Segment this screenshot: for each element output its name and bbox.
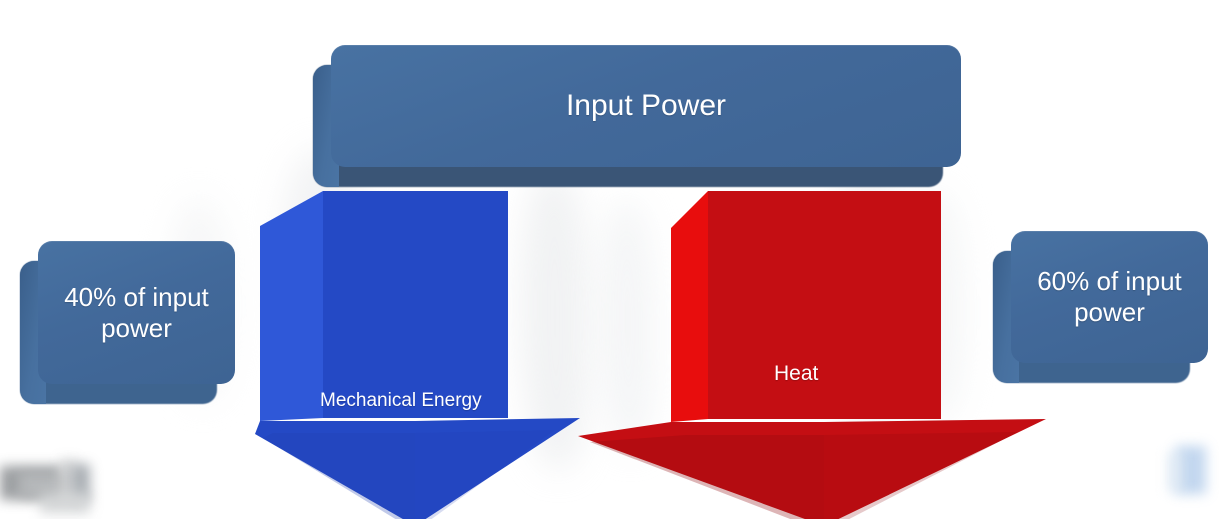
arrow-bevel-face — [671, 191, 708, 422]
background-artifact — [60, 460, 76, 502]
arrow-bevel-face — [260, 191, 323, 421]
arrow-head-left — [578, 422, 824, 519]
input-power-box[interactable]: Input Power — [313, 45, 961, 187]
box-front-face: 40% of input power — [38, 241, 235, 384]
arrow-head-right — [415, 418, 580, 519]
arrow-head-shade — [824, 432, 1018, 519]
clipped-text: · · · · · · · · · · · · — [0, 0, 1219, 4]
arrow-label-mechanical-energy: Mechanical Energy — [320, 390, 482, 412]
background-artifact — [18, 472, 66, 498]
callout-40-percent-label: 40% of input power — [64, 282, 209, 343]
callout-line-2: power — [1074, 297, 1145, 327]
arrow-head-shade — [415, 430, 555, 519]
callout-40-percent[interactable]: 40% of input power — [20, 241, 235, 404]
arrow-head-shade — [590, 435, 824, 519]
arrow-shaft — [708, 191, 941, 419]
clipped-text-strip: · · · · · · · · · · · · — [0, 0, 1219, 9]
callout-line-2: power — [101, 313, 172, 343]
background-artifact — [1168, 452, 1182, 492]
callout-60-percent-label: 60% of input power — [1037, 266, 1182, 327]
arrow-mechanical-energy — [255, 186, 585, 519]
box-front-face: Input Power — [331, 45, 961, 167]
callout-line-1: 40% of input — [64, 282, 209, 312]
background-blur-shape — [905, 190, 965, 420]
arrow-head-shade — [263, 433, 415, 519]
background-artifact — [72, 464, 90, 502]
slide-canvas: · · · · · · · · · · · · — [0, 0, 1219, 519]
background-artifact — [0, 466, 62, 500]
background-blur-shape — [600, 200, 655, 450]
background-blur-shape — [520, 170, 590, 470]
callout-line-1: 60% of input — [1037, 266, 1182, 296]
arrow-head-left — [255, 421, 415, 519]
background-blur-shape — [830, 160, 910, 440]
arrow-head-right — [824, 419, 1046, 519]
box-front-face: 60% of input power — [1011, 231, 1208, 363]
arrow-heat — [578, 186, 1048, 519]
background-blur-shape — [280, 150, 370, 410]
input-power-label: Input Power — [566, 88, 726, 123]
arrow-shaft — [323, 191, 508, 418]
arrow-label-heat: Heat — [774, 362, 818, 386]
background-artifact — [40, 492, 90, 514]
callout-60-percent[interactable]: 60% of input power — [993, 231, 1208, 383]
background-artifact — [1176, 446, 1206, 494]
